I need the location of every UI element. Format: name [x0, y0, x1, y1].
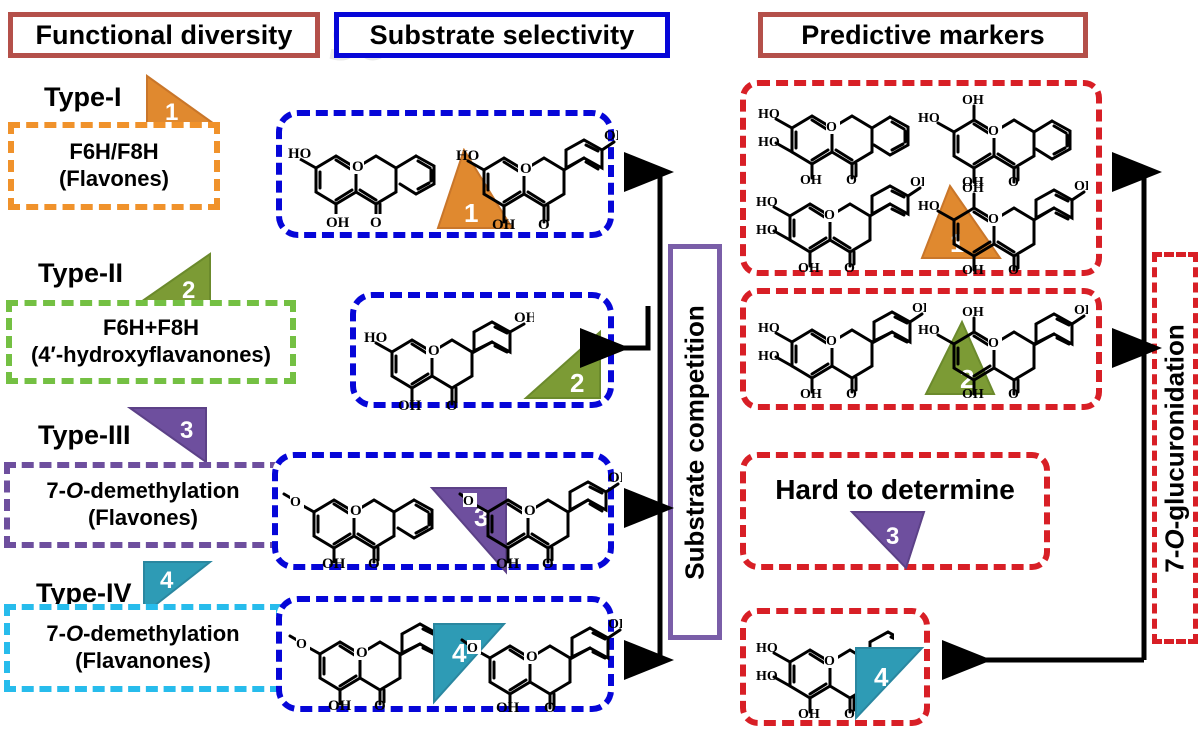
atom-o: O: [826, 334, 837, 349]
atom-o: O: [826, 120, 837, 135]
atom-ho2: HO: [758, 349, 780, 364]
atom-oh2: OH: [608, 470, 622, 486]
atom-o2: O: [370, 215, 382, 230]
category-box-type-2: F6H+F8H (4′-hydroxyflavanones): [6, 300, 296, 384]
selectivity-box-1: HO O OH O 1 HO O: [276, 110, 614, 238]
type-label-2: Type-II: [38, 258, 123, 289]
marker-box-2: HO HO O OH O OH 2: [740, 288, 1102, 410]
atom-ho: HO: [288, 146, 311, 162]
atom-o2: O: [1008, 387, 1019, 400]
atom-o2: O: [538, 217, 550, 232]
atom-oh: OH: [962, 263, 984, 274]
svg-text:2: 2: [570, 368, 584, 398]
atom-o: O: [350, 503, 362, 519]
molecule-apigenin: HO O OH O OH: [456, 120, 618, 232]
atom-ho: HO: [456, 148, 479, 164]
category-line-1: F6H+F8H: [103, 315, 199, 342]
atom-o: O: [352, 159, 364, 175]
atom-oh2: OH: [514, 310, 534, 326]
atom-ho1: HO: [756, 195, 778, 210]
header-predictive-markers: Predictive markers: [758, 12, 1088, 58]
atom-o: O: [356, 645, 368, 661]
selectivity-box-2: HO O OH O OH 2: [350, 292, 614, 408]
triangle-marker-2: 2: [522, 324, 606, 406]
atom-oh: OH: [398, 398, 422, 410]
atom-o: O: [988, 336, 999, 351]
triangle-marker-3: 3: [122, 404, 212, 468]
type-label-3: Type-III: [38, 420, 131, 451]
atom-o: O: [824, 208, 835, 223]
atom-o2: O: [1008, 263, 1019, 274]
atom-ho2: HO: [756, 223, 778, 238]
atom-oh-8: OH: [962, 181, 984, 196]
atom-oh: OH: [800, 387, 822, 400]
atom-o-methyl: O: [463, 494, 474, 509]
atom-o: O: [524, 503, 536, 519]
atom-ho1: HO: [756, 641, 778, 656]
molecule-trihydroxyflavanone: HO HO O OH O OH: [756, 302, 926, 400]
atom-oh: OH: [328, 698, 352, 710]
atom-oh: OH: [962, 387, 984, 400]
category-line-1: 7-O-demethylation: [46, 478, 239, 505]
molecule-methoxynaringenin: O O OH O OH: [458, 604, 622, 712]
category-line-2: (Flavones): [88, 505, 198, 532]
header-functional-diversity: Functional diversity: [8, 12, 320, 58]
svg-text:3: 3: [180, 417, 193, 444]
atom-oh: OH: [322, 556, 346, 568]
atom-o2: O: [544, 700, 556, 712]
category-line-1: F6H/F8H: [69, 139, 158, 166]
atom-ho1: HO: [918, 199, 940, 214]
atom-oh2: OH: [608, 617, 622, 632]
type-label-1: Type-I: [44, 82, 122, 113]
svg-text:3: 3: [886, 523, 899, 550]
atom-oh-4p: OH: [1074, 179, 1088, 194]
arrow-to-box-1: [634, 172, 660, 660]
atom-o: O: [526, 649, 538, 665]
arrow-group-left: [590, 172, 660, 660]
atom-o-methyl: O: [296, 637, 307, 652]
category-box-type-3: 7-O-demethylation (Flavones): [4, 462, 282, 548]
hard-to-determine-text: Hard to determine: [746, 458, 1044, 506]
molecule-baicalein: HO HO O OH O: [756, 90, 916, 184]
atom-oh: OH: [496, 700, 520, 712]
atom-o2: O: [368, 556, 380, 568]
atom-o: O: [428, 343, 440, 359]
molecule-naringenin: HO O OH O OH: [364, 302, 534, 410]
atom-oh-8: OH: [962, 93, 984, 108]
category-line-2: (4′-hydroxyflavanones): [31, 342, 271, 369]
atom-ho1: HO: [758, 321, 780, 336]
atom-ho1: HO: [918, 111, 940, 126]
atom-ho: HO: [364, 330, 387, 346]
molecule-methoxyflavanone: O O OH O: [288, 608, 446, 710]
category-box-type-4: 7-O-demethylation (Flavanones): [4, 604, 282, 692]
atom-oh-4p: OH: [1074, 303, 1088, 318]
atom-o: O: [988, 124, 999, 139]
atom-o2: O: [846, 387, 857, 400]
label-substrate-competition-text: Substrate competition: [680, 305, 711, 579]
atom-o2: O: [374, 698, 386, 710]
atom-o2: O: [542, 556, 554, 570]
atom-oh: OH: [492, 217, 516, 232]
atom-oh-8: OH: [962, 305, 984, 320]
atom-o-methyl: O: [467, 641, 478, 656]
label-glucuronidation: 7-O-glucuronidation: [1152, 252, 1198, 644]
label-glucuronidation-text: 7-O-glucuronidation: [1160, 324, 1191, 572]
category-line-2: (Flavones): [59, 166, 169, 193]
label-substrate-competition: Substrate competition: [668, 244, 722, 640]
atom-o: O: [520, 161, 532, 177]
atom-o2: O: [446, 398, 458, 410]
atom-ho1: HO: [758, 107, 780, 122]
molecule-chrysin: HO O OH O: [288, 126, 438, 230]
molecule-norwogonin: HO OH O OH O: [918, 86, 1082, 186]
selectivity-box-4: O O OH O 4 O O: [276, 596, 614, 712]
molecule-trihydroxyflavanone-2: HO HO O OH O: [754, 622, 894, 720]
atom-oh: OH: [496, 556, 520, 570]
atom-o: O: [824, 654, 835, 669]
selectivity-box-3: O O OH O 3: [272, 452, 614, 570]
atom-ho2: HO: [756, 669, 778, 684]
arrow-to-box-2-stub: [614, 306, 648, 348]
molecule-isoscutellarein: HO OH O OH O OH: [918, 174, 1088, 274]
header-substrate-selectivity: Substrate selectivity: [334, 12, 670, 58]
atom-ho1: HO: [918, 323, 940, 338]
atom-oh: OH: [798, 261, 820, 274]
atom-o-methyl: O: [290, 495, 301, 510]
atom-o: O: [988, 212, 999, 227]
atom-oh2: OH: [604, 128, 618, 144]
category-box-type-1: F6H/F8H (Flavones): [8, 122, 220, 210]
atom-ho2: HO: [758, 135, 780, 150]
molecule-methoxyflavone: O O OH O: [282, 466, 440, 568]
svg-text:4: 4: [160, 567, 174, 594]
molecule-methoxyapigenin: O O OH O OH: [458, 460, 622, 570]
molecule-scutellarein: HO HO O OH O OH: [754, 176, 924, 274]
atom-oh: OH: [326, 215, 350, 230]
marker-box-1: HO HO O OH O HO OH: [740, 80, 1102, 276]
diagram-canvas: sc Functional diversity Substrate select…: [0, 0, 1200, 741]
marker-box-3: Hard to determine 3: [740, 452, 1050, 570]
atom-oh: OH: [798, 707, 820, 720]
atom-o2: O: [844, 261, 855, 274]
category-line-1: 7-O-demethylation: [46, 621, 239, 648]
atom-o2: O: [844, 707, 855, 720]
triangle-marker-3: 3: [846, 508, 936, 574]
arrow-to-marker-1: [1122, 172, 1144, 660]
category-line-2: (Flavanones): [75, 648, 211, 675]
marker-box-4: HO HO O OH O 4: [740, 608, 930, 726]
molecule-hydroxynaringenin: HO OH O OH O OH: [918, 296, 1088, 400]
